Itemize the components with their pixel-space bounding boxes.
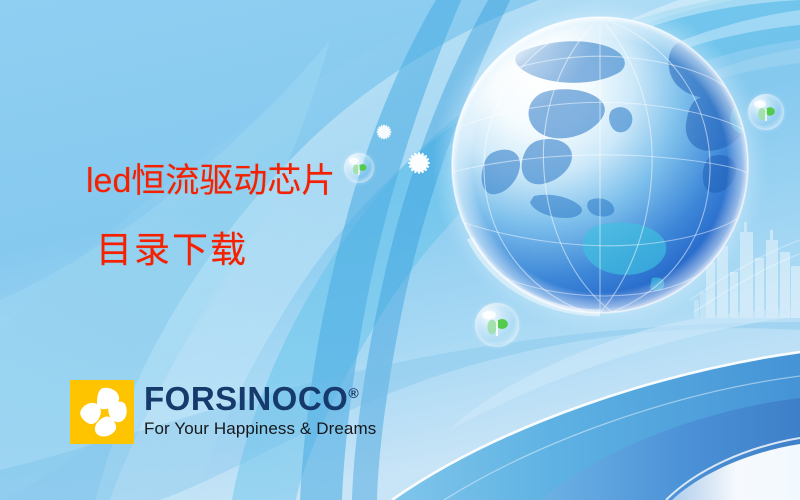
bubble-with-sprout-right [748,94,784,130]
logo-company-name: FORSINOCO® [144,382,376,415]
bubble-with-sprout-bottom [475,303,519,347]
headline-line-1: led恒流驱动芯片 [86,164,335,198]
registered-trademark-icon: ® [348,385,359,401]
logo-tagline: For Your Happiness & Dreams [144,420,376,437]
banner-image: led恒流驱动芯片 目录下载 FORSINOCO® For Your Happi… [0,0,800,500]
flower-sparkle-2 [408,152,430,174]
logo-company-name-text: FORSINOCO [144,380,348,417]
headline-line-2: 目录下载 [96,232,248,268]
bubble-with-sprout-top [344,153,374,183]
four-petal-flower-mark [70,380,134,444]
company-logo: FORSINOCO® For Your Happiness & Dreams [70,380,376,444]
